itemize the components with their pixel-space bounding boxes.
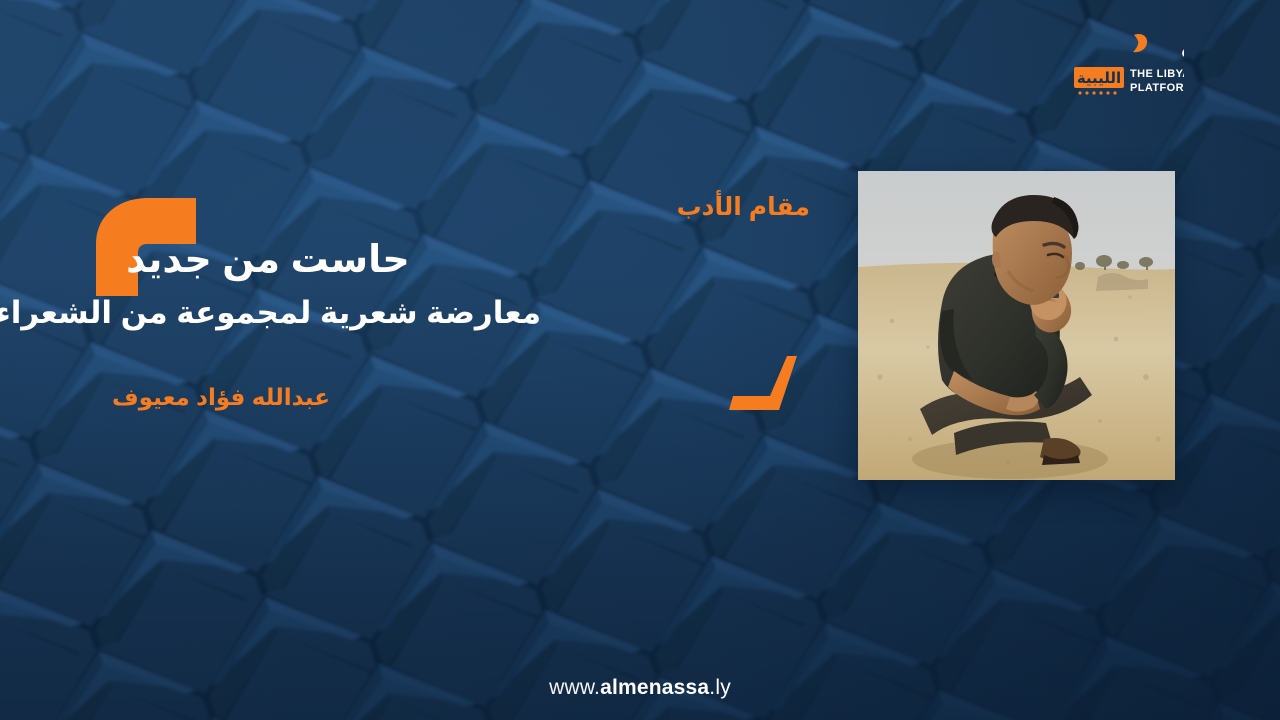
social-card: المنصة الليبية THE LIBYAN PLATFORM — [0, 0, 1280, 720]
headline-line-2: معارضة شعرية لمجموعة من الشعراء — [0, 291, 568, 335]
logo-dots-icon — [1078, 91, 1116, 94]
url-tld-text: .ly — [709, 676, 731, 699]
kicker-label: مقام الأدب — [677, 192, 810, 222]
logo-en-line1: THE LIBYAN — [1130, 68, 1184, 80]
headline-block: حاست من جديد معارضة شعرية لمجموعة من الش… — [0, 236, 568, 335]
footer-website-url[interactable]: www.almenassa.ly — [0, 676, 1280, 700]
url-domain-text: almenassa — [600, 676, 709, 699]
logo-mark-icon: المنصة الليبية THE LIBYAN PLATFORM — [1014, 22, 1184, 100]
logo-arabic-main: المنصة — [1180, 28, 1184, 65]
portrait-illustration — [858, 171, 1175, 480]
quote-close-bracket-icon — [727, 356, 805, 412]
portrait-photo — [858, 171, 1175, 480]
logo-arabic-sub: الليبية — [1077, 70, 1121, 87]
brand-logo[interactable]: المنصة الليبية THE LIBYAN PLATFORM — [1014, 22, 1184, 100]
url-protocol-text: www. — [549, 676, 600, 699]
logo-en-line2: PLATFORM — [1130, 82, 1184, 94]
headline-line-1: حاست من جديد — [0, 236, 568, 285]
author-byline: عبدالله فؤاد معيوف — [112, 384, 330, 411]
logo-swoosh-icon — [1133, 34, 1147, 52]
